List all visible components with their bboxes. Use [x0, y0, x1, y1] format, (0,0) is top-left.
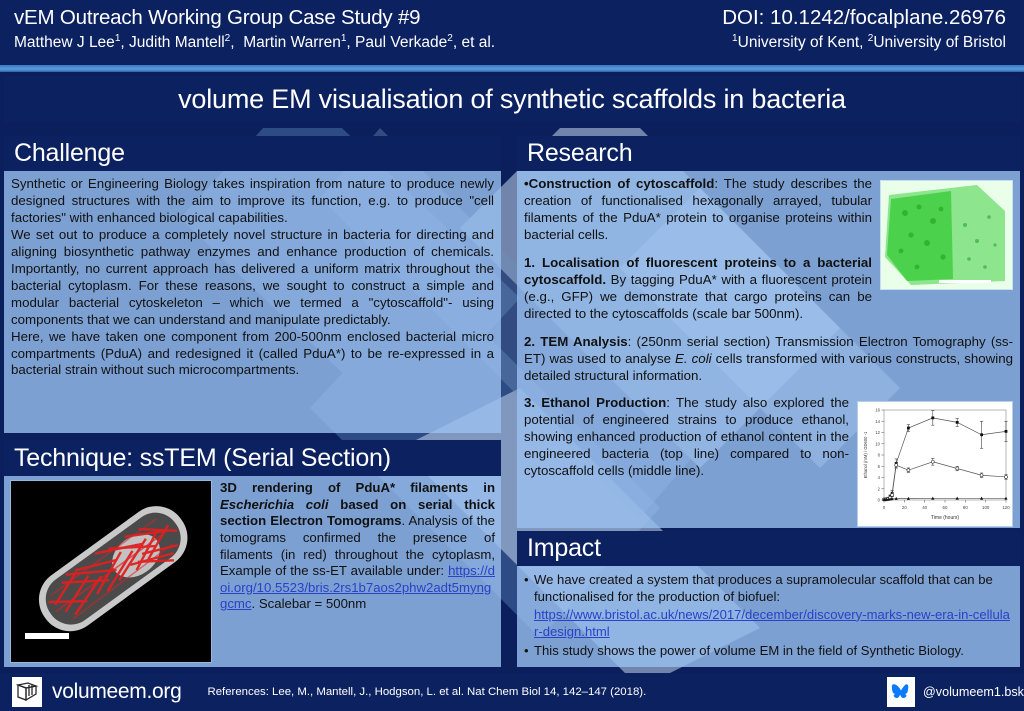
technique-heading-label: Technique: ssTEM (Serial Section) — [14, 444, 391, 473]
svg-text:Time (hours): Time (hours) — [931, 515, 959, 521]
technique-section-body: 3D rendering of PduA* filaments in Esche… — [4, 476, 501, 667]
challenge-heading-label: Challenge — [14, 139, 125, 168]
svg-text:16: 16 — [875, 408, 880, 413]
butterfly-icon-svg — [890, 681, 912, 703]
research-section-header: Research — [517, 136, 1020, 171]
bluesky-butterfly-icon[interactable] — [887, 677, 915, 707]
ethanol-chart-svg: 0204060801001200246810121416Time (hours)… — [858, 402, 1012, 526]
challenge-section-header: Challenge — [4, 136, 501, 171]
svg-text:40: 40 — [922, 505, 927, 510]
tomogram-svg — [11, 481, 211, 662]
poster-canvas: vEM Outreach Working Group Case Study #9… — [0, 0, 1024, 711]
impact-bullet-2: • This study shows the power of volume E… — [524, 642, 1013, 659]
doi-text: DOI: 10.1242/focalplane.26976 — [722, 5, 1006, 31]
technique-caption: 3D rendering of PduA* filaments in Esche… — [220, 480, 495, 663]
research-heading-label: Research — [527, 139, 632, 168]
research-item-2-bold: 2. TEM Analysis — [524, 334, 628, 349]
impact-bullet-1-content: We have created a system that produces a… — [534, 571, 1013, 641]
challenge-paragraph-3: Here, we have taken one component from 2… — [11, 329, 494, 380]
tomogram-image — [10, 480, 212, 663]
technique-species-name: Escherichia coli — [220, 497, 329, 512]
research-item-0-bold: Construction of cytoscaffold — [529, 176, 715, 191]
svg-text:10: 10 — [875, 442, 880, 447]
impact-section-header: Impact — [517, 531, 1020, 566]
impact-bullet-1-text: We have created a system that produces a… — [534, 572, 993, 604]
svg-text:Ethanol (mM) / OD600 -1: Ethanol (mM) / OD600 -1 — [863, 431, 868, 478]
case-study-title: vEM Outreach Working Group Case Study #9 — [14, 5, 495, 31]
fluorescence-svg — [881, 181, 1012, 289]
scalebar — [25, 633, 69, 639]
poster-main-title: volume EM visualisation of synthetic sca… — [178, 84, 846, 115]
research-item-2: 2. TEM Analysis: (250nm serial section) … — [524, 334, 1013, 385]
challenge-section-body: Synthetic or Engineering Biology takes i… — [4, 171, 501, 433]
ethanol-production-chart: 0204060801001200246810121416Time (hours)… — [857, 401, 1013, 527]
header-left-block: vEM Outreach Working Group Case Study #9… — [14, 5, 495, 54]
impact-bullet-marker-2: • — [524, 642, 534, 659]
footer-references: References: Lee, M., Mantell, J., Hodgso… — [207, 686, 887, 698]
challenge-paragraph-1: Synthetic or Engineering Biology takes i… — [11, 176, 494, 227]
author-list: Matthew J Lee1, Judith Mantell2, Martin … — [14, 33, 495, 54]
impact-heading-label: Impact — [527, 534, 601, 563]
impact-bullet-1: • We have created a system that produces… — [524, 571, 1013, 641]
technique-scalebar-note: . Scalebar = 500nm — [252, 596, 367, 611]
poster-header: vEM Outreach Working Group Case Study #9… — [0, 0, 1024, 65]
svg-text:100: 100 — [982, 505, 990, 510]
svg-text:60: 60 — [943, 505, 948, 510]
bristol-news-link[interactable]: https://www.bristol.ac.uk/news/2017/dece… — [534, 607, 1010, 639]
technique-caption-lead: 3D rendering of PduA* filaments in — [220, 480, 495, 495]
research-item-2-italic: E. coli — [675, 351, 712, 366]
svg-text:14: 14 — [875, 419, 880, 424]
footer-bluesky-handle[interactable]: @volumeem1.bsky.social — [923, 685, 1018, 700]
impact-bullet-marker-1: • — [524, 571, 534, 641]
volume-em-stack-icon — [12, 677, 42, 707]
svg-text:120: 120 — [1002, 505, 1010, 510]
impact-section-body: • We have created a system that produces… — [517, 566, 1020, 667]
gfp-fluorescence-image — [880, 180, 1013, 290]
svg-text:20: 20 — [902, 505, 907, 510]
research-item-3-bold: 3. Ethanol Production — [524, 395, 666, 410]
header-divider — [0, 65, 1024, 72]
poster-banner: volume EM visualisation of synthetic sca… — [4, 76, 1020, 122]
header-right-block: DOI: 10.1242/focalplane.26976 1Universit… — [722, 5, 1010, 54]
affiliations-text: 1University of Kent, 2University of Bris… — [722, 33, 1006, 54]
poster-footer: volumeem.org References: Lee, M., Mantel… — [0, 673, 1024, 711]
technique-section-header: Technique: ssTEM (Serial Section) — [4, 440, 501, 476]
impact-bullet-2-text: This study shows the power of volume EM … — [534, 642, 964, 659]
svg-text:80: 80 — [963, 505, 968, 510]
stack-icon-svg — [15, 680, 39, 704]
footer-brand-label[interactable]: volumeem.org — [52, 680, 181, 704]
svg-text:12: 12 — [875, 431, 880, 436]
research-section-body: •Construction of cytoscaffold: The study… — [517, 171, 1020, 528]
challenge-paragraph-2: We set out to produce a completely novel… — [11, 227, 494, 329]
